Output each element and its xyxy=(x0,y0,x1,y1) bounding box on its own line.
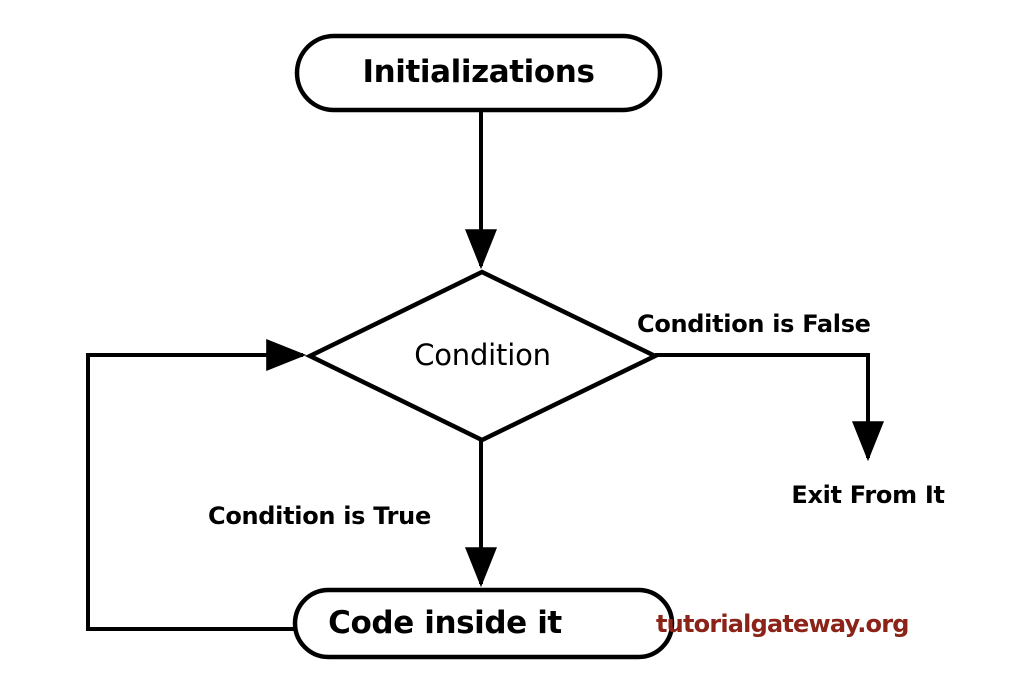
node-code-inside-it-label: Code inside it xyxy=(295,608,595,639)
node-initializations-label: Initializations xyxy=(297,57,660,88)
edge-label-condition-true: Condition is True xyxy=(208,504,431,528)
watermark-tutorialgateway: tutorialgateway.org xyxy=(656,612,909,636)
edge-loop-back xyxy=(88,355,303,629)
exit-terminal-label: Exit From It xyxy=(768,483,968,507)
edge-condition-false xyxy=(655,355,868,458)
node-condition-label: Condition xyxy=(310,341,655,370)
flowchart-canvas: Initializations Condition Code inside it… xyxy=(0,0,1024,700)
edge-label-condition-false: Condition is False xyxy=(637,312,871,336)
